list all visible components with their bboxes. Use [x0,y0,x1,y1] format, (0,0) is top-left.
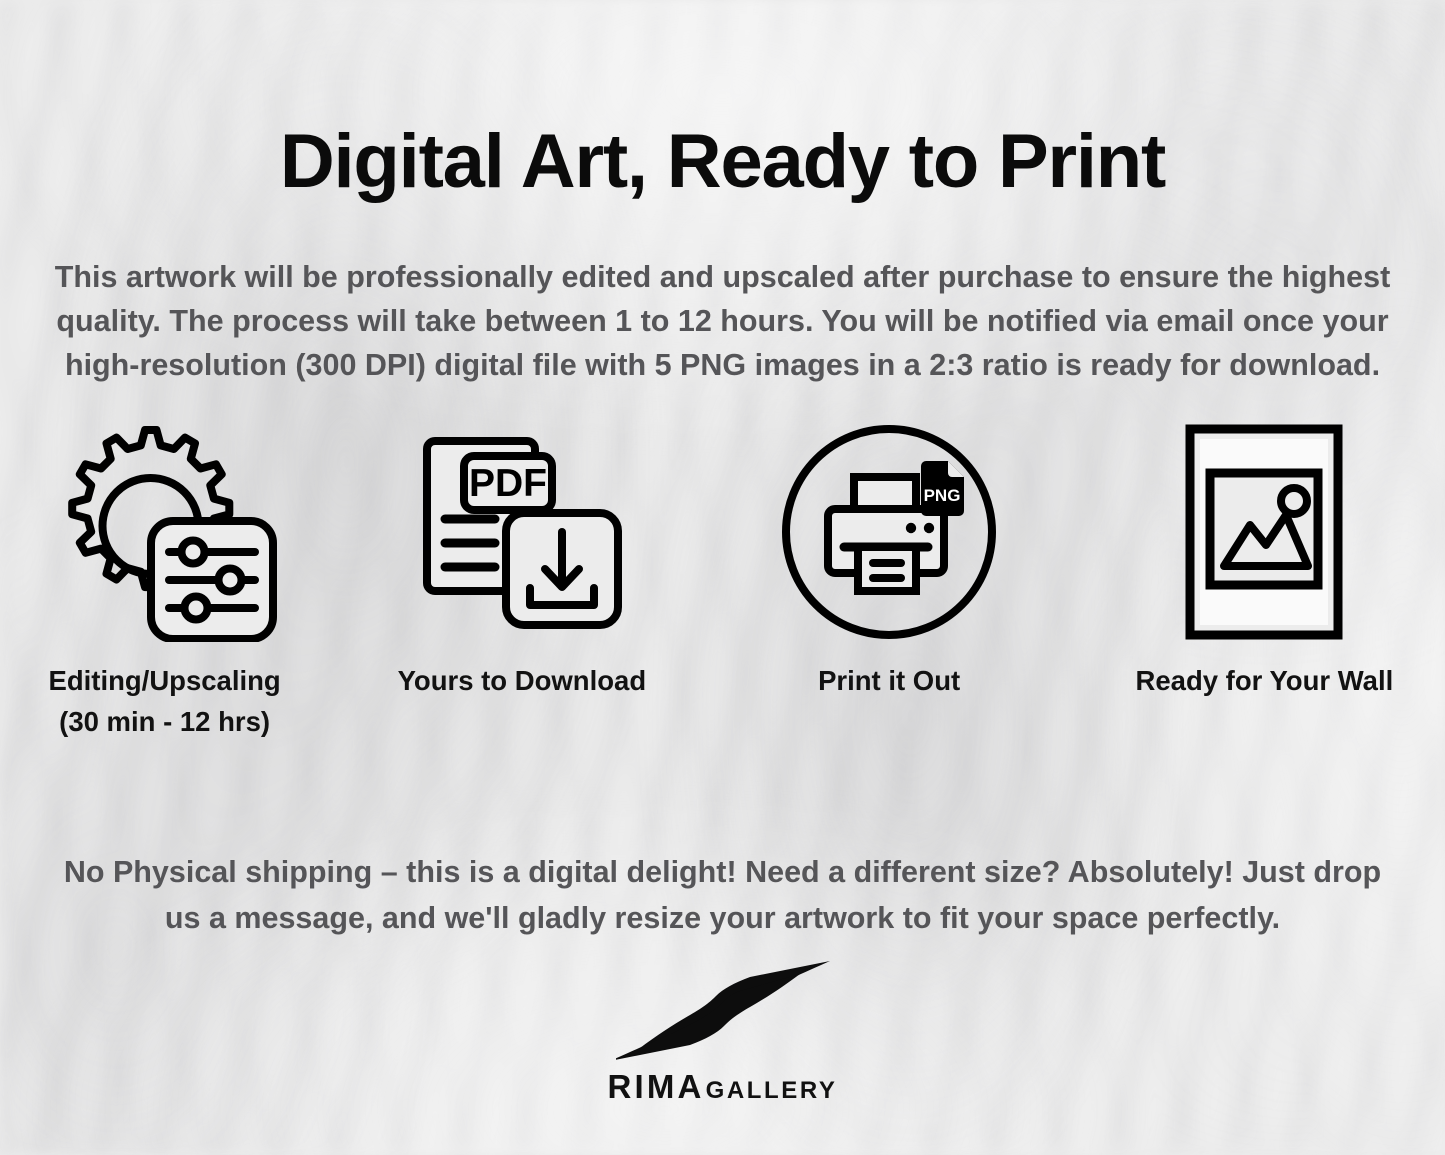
rima-swoosh-icon [616,958,830,1066]
printer-in-circle-icon: PNG [778,414,1000,649]
page-title: Digital Art, Ready to Print [0,123,1445,201]
pdf-badge-text: PDF [469,462,547,505]
feature-label-print: Print it Out [818,661,960,702]
feature-item-print: PNG Print it Out [709,414,1070,702]
logo-word-gallery: GALLERY [706,1077,838,1105]
feature-item-download: PDF Yours to Download [341,414,702,702]
promo-page: Digital Art, Ready to Print This artwork… [0,0,1445,1155]
png-badge-text: PNG [924,486,961,505]
feature-label-download: Yours to Download [398,661,647,702]
pdf-document-download-icon: PDF [417,414,627,649]
outro-paragraph: No Physical shipping – this is a digital… [58,849,1388,942]
feature-item-editing-upscaling: Editing/Upscaling (30 min - 12 hrs) [0,414,345,742]
feature-item-wall: Ready for Your Wall [1084,414,1445,702]
brand-logo: RIMA GALLERY [563,958,883,1106]
page-content: Digital Art, Ready to Print This artwork… [0,0,1445,1155]
logo-word-rima: RIMA [607,1068,704,1106]
gear-settings-sliders-icon [50,414,280,649]
feature-label-editing-upscaling: Editing/Upscaling (30 min - 12 hrs) [49,661,281,742]
framed-picture-icon [1174,414,1354,649]
feature-row: Editing/Upscaling (30 min - 12 hrs) PDF [0,414,1445,742]
intro-paragraph: This artwork will be professionally edit… [54,255,1392,388]
logo-wordmark: RIMA GALLERY [607,1068,837,1106]
feature-label-wall: Ready for Your Wall [1136,661,1394,702]
